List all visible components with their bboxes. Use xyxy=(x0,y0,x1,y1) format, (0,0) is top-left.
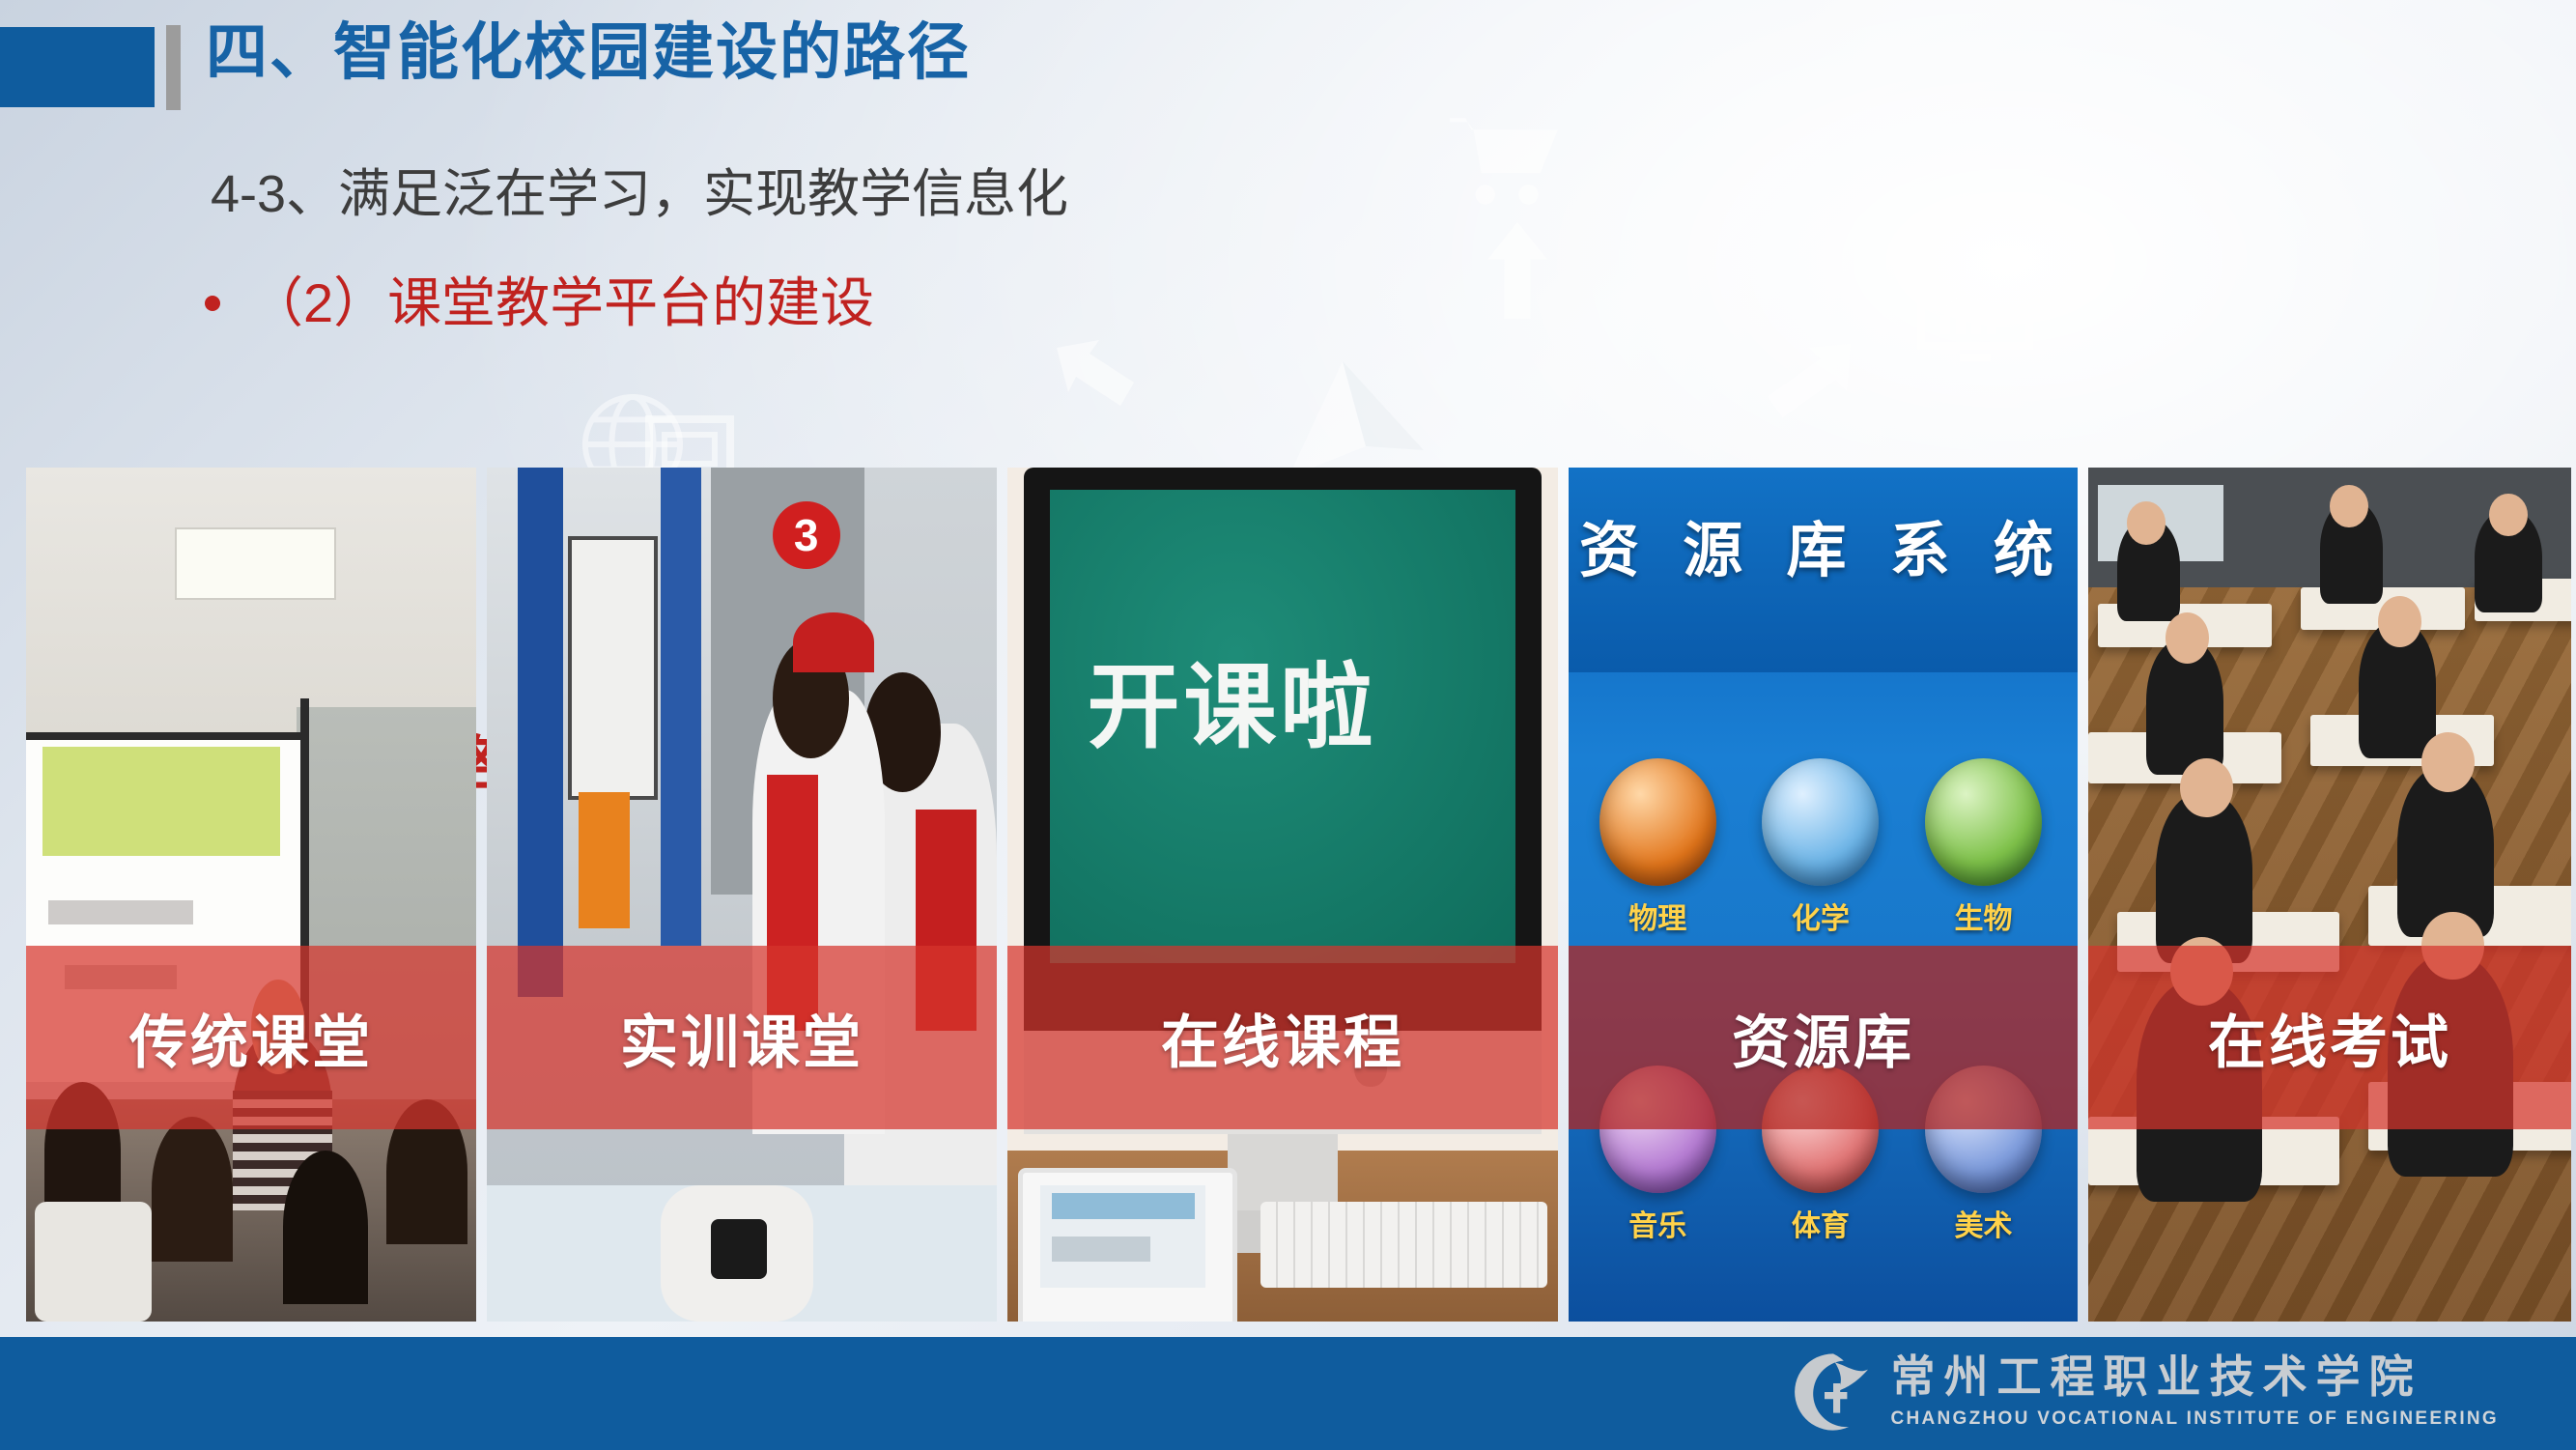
shopping-cart-icon xyxy=(1442,106,1568,232)
panel-caption: 在线考试 xyxy=(2088,975,2571,1100)
subject-label: 生物 xyxy=(1925,895,2042,937)
institution-name-en: CHANGZHOU VOCATIONAL INSTITUTE OF ENGINE… xyxy=(1890,1408,2499,1430)
subject-orb-chemistry xyxy=(1762,758,1879,887)
institution-logo: 常州工程职业技术学院 CHANGZHOU VOCATIONAL INSTITUT… xyxy=(1790,1349,2499,1436)
station-number-badge: 3 xyxy=(773,501,840,569)
subject-label: 化学 xyxy=(1762,895,1879,937)
screen-text: 开课啦 xyxy=(1087,632,1534,766)
panel-resource-library[interactable]: 资 源 库 系 统 物理 化学 生物 音乐 体育 美术 资源库 xyxy=(1569,468,2078,1322)
bullet-text: （2）课堂教学平台的建设 xyxy=(249,273,874,333)
slide-footer: 常州工程职业技术学院 CHANGZHOU VOCATIONAL INSTITUT… xyxy=(0,1337,2576,1450)
panel-caption: 资源库 xyxy=(1569,975,2078,1100)
subject-label: 体育 xyxy=(1762,1202,1879,1244)
panel-traditional-classroom[interactable]: 传统课堂 xyxy=(26,468,476,1322)
panel-caption: 在线课程 xyxy=(1007,975,1558,1100)
subject-orb-biology xyxy=(1925,758,2042,887)
classroom-photo xyxy=(26,468,476,1322)
presentation-slide: 四、智能化校园建设的路径 4-3、满足泛在学习，实现教学信息化 （2）课堂教学平… xyxy=(0,0,2576,1450)
institution-name-cn: 常州工程职业技术学院 xyxy=(1890,1354,2499,1401)
panel-online-exam[interactable]: 在线考试 xyxy=(2088,468,2571,1322)
institution-logo-mark xyxy=(1790,1349,1877,1436)
up-arrow-icon xyxy=(1487,222,1547,319)
resource-library-title: 资 源 库 系 统 xyxy=(1569,501,2078,588)
photo-strip: 传统课堂 3 实训课堂 xyxy=(26,468,2550,1322)
bullet-line: （2）课堂教学平台的建设 xyxy=(205,273,874,333)
imac-photo: 开课啦 xyxy=(1007,468,1558,1322)
subject-label: 物理 xyxy=(1599,895,1716,937)
monitor-chart-icon xyxy=(1917,269,2033,365)
panel-caption: 实训课堂 xyxy=(487,975,997,1100)
diagonal-arrow-icon xyxy=(1763,340,1855,423)
header-accent-block xyxy=(0,27,155,107)
resource-library-screenshot: 资 源 库 系 统 物理 化学 生物 音乐 体育 美术 xyxy=(1569,468,2078,1322)
page-title: 四、智能化校园建设的路径 xyxy=(206,21,971,83)
exam-hall-photo xyxy=(2088,468,2571,1322)
paper-plane-icon xyxy=(1285,357,1430,483)
panel-training-classroom[interactable]: 3 实训课堂 xyxy=(487,468,997,1322)
subject-label: 美术 xyxy=(1925,1202,2042,1244)
subject-orb-physics xyxy=(1599,758,1716,887)
subject-label: 音乐 xyxy=(1599,1202,1716,1244)
panel-online-course[interactable]: 开课啦 在线课程 xyxy=(1007,468,1558,1322)
keyboard xyxy=(1260,1202,1546,1287)
panel-caption: 传统课堂 xyxy=(26,975,476,1100)
section-subtitle: 4-3、满足泛在学习，实现教学信息化 xyxy=(211,166,1068,223)
training-lab-photo: 3 xyxy=(487,468,997,1322)
bullet-dot-icon xyxy=(205,296,220,311)
header-divider-bar xyxy=(166,25,181,110)
left-arrow-icon xyxy=(1053,336,1138,412)
